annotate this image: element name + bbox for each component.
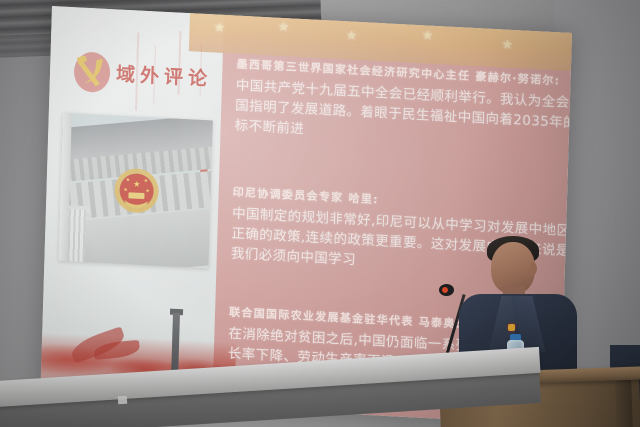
wall-socket-icon [118, 396, 127, 405]
presentation-photo: ★ ★ ★ ★ ★ 域外评论 [0, 0, 640, 427]
svg-text:★: ★ [133, 180, 140, 189]
svg-text:★: ★ [126, 177, 131, 183]
slide-title: 域外评论 [116, 59, 213, 91]
svg-text:★: ★ [145, 188, 150, 194]
national-emblem-icon: ★ ★ ★ ★ ★ [112, 163, 162, 217]
inset-photo-great-hall: ★ ★ ★ ★ ★ [58, 113, 212, 269]
party-badge-icon [508, 324, 515, 331]
svg-text:★: ★ [144, 178, 149, 184]
star-icon: ★ [422, 28, 434, 42]
star-icon: ★ [278, 20, 290, 34]
speaker-ear [529, 262, 537, 275]
microphone-indicator-icon [442, 287, 448, 293]
svg-text:★: ★ [123, 187, 128, 193]
star-icon: ★ [345, 28, 357, 42]
star-icon: ★ [213, 20, 225, 34]
star-icon: ★ [501, 37, 513, 51]
podium-side-edge [615, 378, 633, 427]
hammer-and-sickle-icon [71, 49, 112, 95]
